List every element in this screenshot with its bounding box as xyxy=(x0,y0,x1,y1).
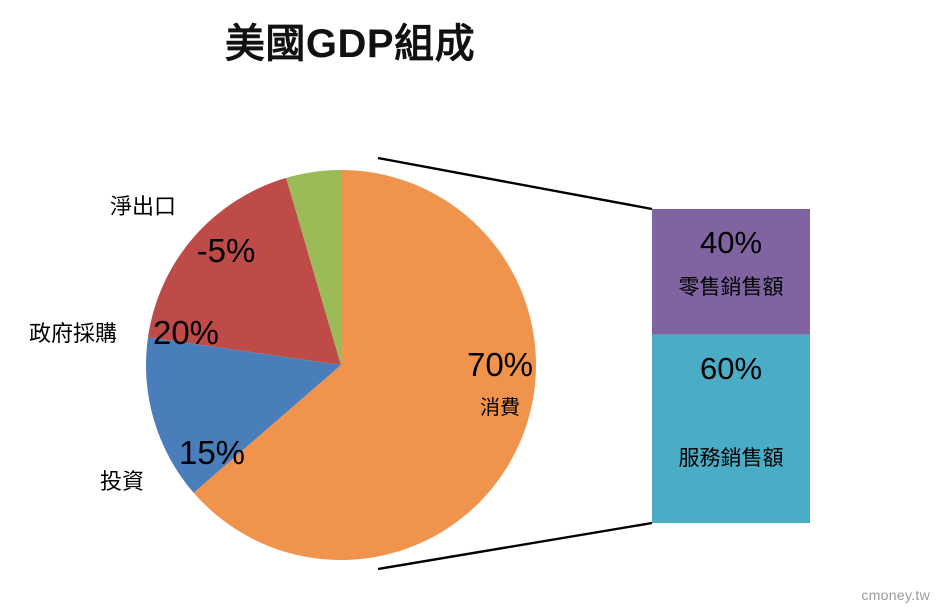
slice-inside-label-consumption: 消費 xyxy=(480,396,520,419)
chart-canvas: 美國GDP組成 70% 消費 15% 20% -5% 淨 xyxy=(0,0,942,611)
bar-label-retail-sales: 零售銷售額 xyxy=(679,276,784,299)
bar-value-service-sales: 60% xyxy=(700,351,762,386)
slice-value-investment: 15% xyxy=(179,434,245,471)
slice-value-net-exports: -5% xyxy=(197,232,256,269)
bar-label-service-sales: 服務銷售額 xyxy=(679,447,784,470)
category-label-net-exports: 淨出口 xyxy=(110,194,176,219)
bar-value-retail-sales: 40% xyxy=(700,225,762,260)
watermark: cmoney.tw xyxy=(861,587,930,603)
category-label-government: 政府採購 xyxy=(29,321,117,346)
slice-value-consumption: 70% xyxy=(467,346,533,383)
slice-value-government: 20% xyxy=(153,314,219,351)
gdp-composition-figure: 70% 消費 15% 20% -5% 淨出口 政府採購 投資 40% 零售銷售額… xyxy=(0,0,942,611)
category-label-investment: 投資 xyxy=(100,469,144,494)
breakout-stacked-bar: 40% 零售銷售額 60% 服務銷售額 xyxy=(652,209,810,523)
